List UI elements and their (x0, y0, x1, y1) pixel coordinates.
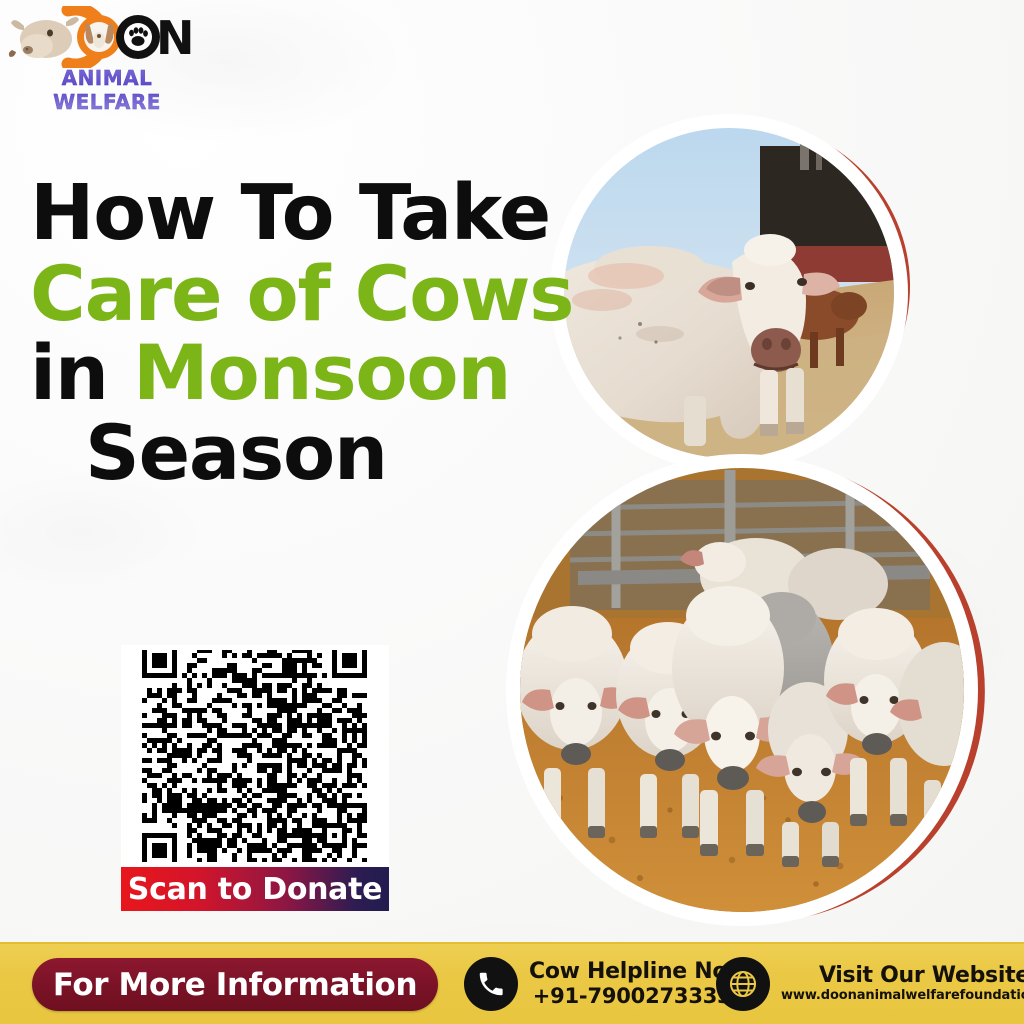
phone-icon (464, 957, 518, 1011)
website-group[interactable]: Visit Our Website www.doonanimalwelfaref… (716, 957, 1024, 1011)
headline-line-3-green: Monsoon (133, 328, 510, 417)
headline-line-1: How To Take (30, 176, 550, 252)
website-text: Visit Our Website www.doonanimalwelfaref… (781, 964, 1024, 1003)
brand-logo[interactable]: N ANIMAL WELFARE (6, 6, 206, 98)
headline: How To Take Care of Cows in Monsoon Seas… (30, 176, 550, 490)
footer-bar: For More Information Cow Helpline No. +9… (0, 942, 1024, 1024)
headline-line-4: Season (30, 415, 550, 490)
website-title: Visit Our Website (819, 964, 1024, 989)
cow-portrait-photo (564, 128, 894, 458)
dog-face-icon (77, 15, 121, 59)
helpline-title: Cow Helpline No. (529, 960, 735, 985)
scan-to-donate-button[interactable]: Scan to Donate (121, 867, 389, 911)
paw-print-icon (116, 15, 160, 59)
globe-icon (716, 957, 770, 1011)
brand-tagline: ANIMAL WELFARE (14, 66, 200, 114)
qr-code[interactable] (139, 650, 371, 862)
cattle-herd-photo (520, 468, 964, 912)
cattle-herd-illustration (520, 468, 964, 912)
headline-line-3-dark: in (30, 328, 133, 417)
helpline-text: Cow Helpline No. +91-7900273333 (529, 960, 735, 1008)
cow-portrait-illustration (564, 128, 894, 458)
qr-code-frame (121, 645, 389, 867)
logo-mark-icon: N (6, 6, 206, 68)
for-more-information-button[interactable]: For More Information (32, 958, 438, 1011)
helpline-number[interactable]: +91-7900273333 (529, 985, 735, 1009)
helpline-group[interactable]: Cow Helpline No. +91-7900273333 (464, 957, 735, 1011)
cow-head-icon (9, 17, 79, 58)
image-cluster (490, 100, 1024, 940)
poster-canvas: N ANIMAL WELFARE How To Take Care of Cow… (0, 0, 1024, 1024)
headline-line-2: Care of Cows (30, 256, 550, 331)
donate-block[interactable]: Scan to Donate (121, 645, 389, 911)
website-url[interactable]: www.doonanimalwelfarefoundation.org (781, 989, 1024, 1004)
headline-line-3: in Monsoon (30, 335, 550, 410)
svg-text:N: N (156, 11, 195, 65)
